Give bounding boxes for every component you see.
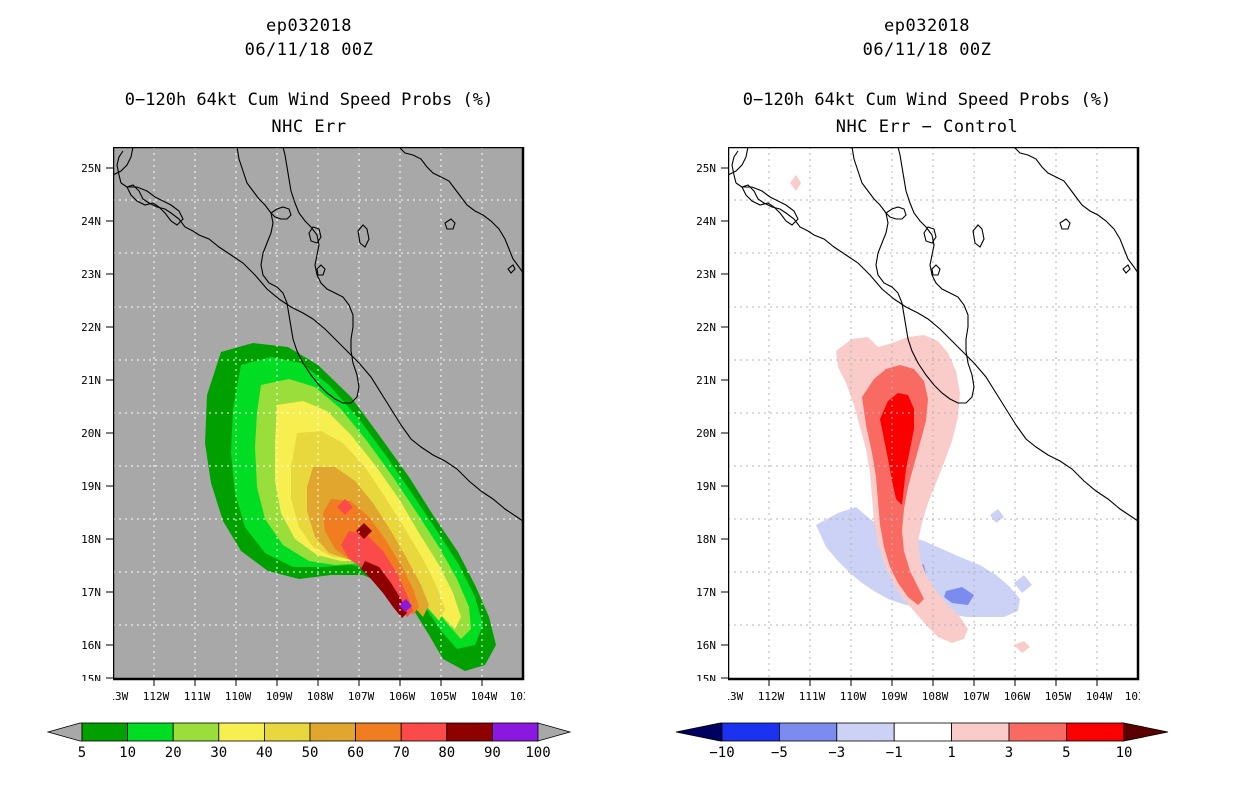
colorbar-block — [310, 723, 356, 741]
x-tick: 105W — [430, 690, 457, 703]
y-tick: 24N — [81, 215, 101, 228]
colorbar-label: 5 — [78, 745, 86, 761]
y-tick: 19N — [81, 480, 101, 493]
colorbar-block — [722, 723, 779, 741]
panel-right-title: 0−120h 64kt Cum Wind Speed Probs (%) — [618, 90, 1236, 110]
y-tick: 23N — [81, 268, 101, 281]
colorbar-label: 10 — [1116, 745, 1133, 761]
colorbar-label: 1 — [947, 745, 955, 761]
panel-left-subtitle: NHC Err — [0, 117, 618, 137]
difference-colorbar-svg: −10 −5 −3 −1 1 3 5 10 — [658, 712, 1218, 762]
colorbar-block — [264, 723, 310, 741]
colorbar-labels: 5 10 20 30 40 50 60 70 80 90 100 — [78, 745, 551, 761]
x-tick: 103W — [1125, 690, 1140, 703]
y-tick-marks — [721, 168, 728, 678]
y-tick: 15N — [81, 673, 101, 681]
panel-right-storm-id: ep032018 — [618, 16, 1236, 36]
colorbar-block — [952, 723, 1009, 741]
colorbar-blocks — [82, 723, 538, 741]
x-tick-labels: 113W 112W 111W 110W 109W 108W 107W 106W … — [728, 690, 1140, 703]
colorbar-label: 70 — [393, 745, 410, 761]
colorbar-block — [356, 723, 402, 741]
y-tick-labels: 25N 24N 23N 22N 21N 20N 19N 18N 17N 16N … — [81, 162, 101, 681]
panel-right-y-axis: 25N 24N 23N 22N 21N 20N 19N 18N 17N 16N … — [666, 147, 786, 681]
colorbar-label: 30 — [210, 745, 227, 761]
x-tick: 107W — [348, 690, 375, 703]
x-tick-labels: 113W 112W 111W 110W 109W 108W 107W 106W … — [113, 690, 525, 703]
colorbar-blocks — [722, 723, 1124, 741]
panel-left-valid-time: 06/11/18 00Z — [0, 40, 618, 60]
x-tick: 109W — [881, 690, 908, 703]
panel-right-map: 25N 24N 23N 22N 21N 20N 19N 18N 17N 16N … — [728, 147, 1140, 681]
panel-right-subtitle: NHC Err − Control — [618, 117, 1236, 137]
x-tick: 104W — [1086, 690, 1113, 703]
x-tick: 103W — [510, 690, 525, 703]
y-tick: 20N — [81, 427, 101, 440]
colorbar-label: −1 — [886, 745, 903, 761]
colorbar-block — [779, 723, 836, 741]
x-tick: 108W — [922, 690, 949, 703]
colorbar-low-arrow — [676, 723, 722, 741]
colorbar-label: 5 — [1062, 745, 1070, 761]
x-tick: 113W — [728, 690, 744, 703]
probability-colorbar-svg: 5 10 20 30 40 50 60 70 80 90 100 — [30, 712, 590, 762]
colorbar-labels: −10 −5 −3 −1 1 3 5 10 — [709, 745, 1132, 761]
colorbar-label: 100 — [525, 745, 550, 761]
panel-left-map: 25N 24N 23N 22N 21N 20N 19N 18N 17N 16N … — [113, 147, 525, 681]
colorbar-block — [837, 723, 894, 741]
x-tick: 111W — [184, 690, 211, 703]
colorbar-label: −10 — [709, 745, 734, 761]
colorbar-label: 10 — [119, 745, 136, 761]
y-tick: 16N — [696, 639, 716, 652]
colorbar-label: −3 — [828, 745, 845, 761]
y-tick: 16N — [81, 639, 101, 652]
probability-map-svg — [113, 147, 525, 681]
y-tick: 18N — [81, 533, 101, 546]
x-tick-marks — [769, 680, 1097, 686]
colorbar-block — [1066, 723, 1123, 741]
y-tick: 23N — [696, 268, 716, 281]
probability-colorbar: 5 10 20 30 40 50 60 70 80 90 100 — [0, 712, 618, 762]
colorbar-label: 50 — [302, 745, 319, 761]
x-tick: 112W — [143, 690, 170, 703]
y-tick: 19N — [696, 480, 716, 493]
colorbar-label: −5 — [771, 745, 788, 761]
y-tick: 21N — [696, 374, 716, 387]
panel-left-title: 0−120h 64kt Cum Wind Speed Probs (%) — [0, 90, 618, 110]
y-tick: 20N — [696, 427, 716, 440]
y-tick: 22N — [81, 321, 101, 334]
colorbar-block — [219, 723, 265, 741]
panel-left-storm-id: ep032018 — [0, 16, 618, 36]
x-tick: 109W — [266, 690, 293, 703]
x-tick: 105W — [1045, 690, 1072, 703]
panel-nhc-err: ep032018 06/11/18 00Z 0−120h 64kt Cum Wi… — [0, 0, 618, 800]
difference-colorbar: −10 −5 −3 −1 1 3 5 10 — [618, 712, 1236, 762]
colorbar-label: 40 — [256, 745, 273, 761]
x-tick: 112W — [758, 690, 785, 703]
y-tick: 24N — [696, 215, 716, 228]
x-tick: 104W — [471, 690, 498, 703]
colorbar-label: 60 — [347, 745, 364, 761]
y-tick: 21N — [81, 374, 101, 387]
panel-right-valid-time: 06/11/18 00Z — [618, 40, 1236, 60]
x-tick: 110W — [225, 690, 252, 703]
panel-nhc-err-minus-control: ep032018 06/11/18 00Z 0−120h 64kt Cum Wi… — [618, 0, 1236, 800]
colorbar-block — [173, 723, 219, 741]
colorbar-block — [401, 723, 447, 741]
y-tick: 22N — [696, 321, 716, 334]
y-tick: 25N — [81, 162, 101, 175]
colorbar-block — [82, 723, 128, 741]
x-tick: 108W — [307, 690, 334, 703]
colorbar-label: 20 — [165, 745, 182, 761]
difference-map-svg — [728, 147, 1140, 681]
y-tick-marks — [106, 168, 113, 678]
colorbar-block — [1009, 723, 1066, 741]
x-tick: 111W — [799, 690, 826, 703]
colorbar-high-arrow — [536, 723, 570, 741]
colorbar-block — [447, 723, 493, 741]
x-tick-marks — [154, 680, 482, 686]
colorbar-low-arrow — [48, 723, 82, 741]
y-tick: 25N — [696, 162, 716, 175]
x-tick: 113W — [113, 690, 129, 703]
y-tick: 17N — [81, 586, 101, 599]
x-tick: 110W — [840, 690, 867, 703]
y-tick: 18N — [696, 533, 716, 546]
wind-speed-probability-figure: ep032018 06/11/18 00Z 0−120h 64kt Cum Wi… — [0, 0, 1236, 800]
x-tick: 106W — [1004, 690, 1031, 703]
y-tick-labels: 25N 24N 23N 22N 21N 20N 19N 18N 17N 16N … — [696, 162, 716, 681]
y-tick: 15N — [696, 673, 716, 681]
colorbar-high-arrow — [1122, 723, 1168, 741]
colorbar-label: 90 — [484, 745, 501, 761]
colorbar-block — [894, 723, 951, 741]
x-tick: 107W — [963, 690, 990, 703]
colorbar-block — [128, 723, 174, 741]
x-tick: 106W — [389, 690, 416, 703]
colorbar-label: 80 — [438, 745, 455, 761]
panel-left-y-axis: 25N 24N 23N 22N 21N 20N 19N 18N 17N 16N … — [51, 147, 171, 681]
colorbar-block — [492, 723, 538, 741]
colorbar-label: 3 — [1005, 745, 1013, 761]
y-tick: 17N — [696, 586, 716, 599]
